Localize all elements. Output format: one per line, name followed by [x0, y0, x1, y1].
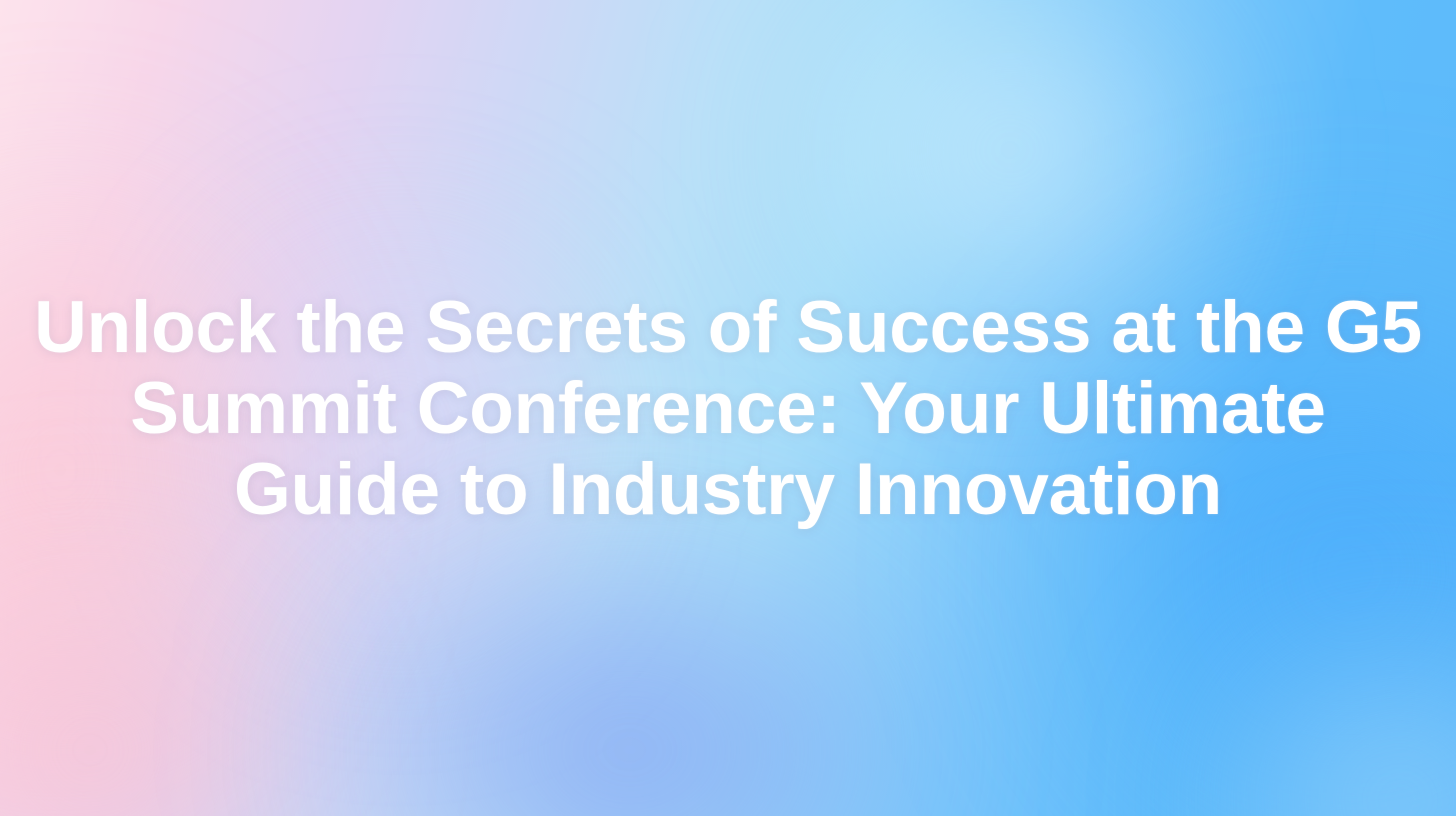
page-title: Unlock the Secrets of Success at the G5 …: [18, 287, 1438, 530]
hero-banner: Unlock the Secrets of Success at the G5 …: [0, 0, 1456, 816]
headline-container: Unlock the Secrets of Success at the G5 …: [0, 0, 1456, 816]
